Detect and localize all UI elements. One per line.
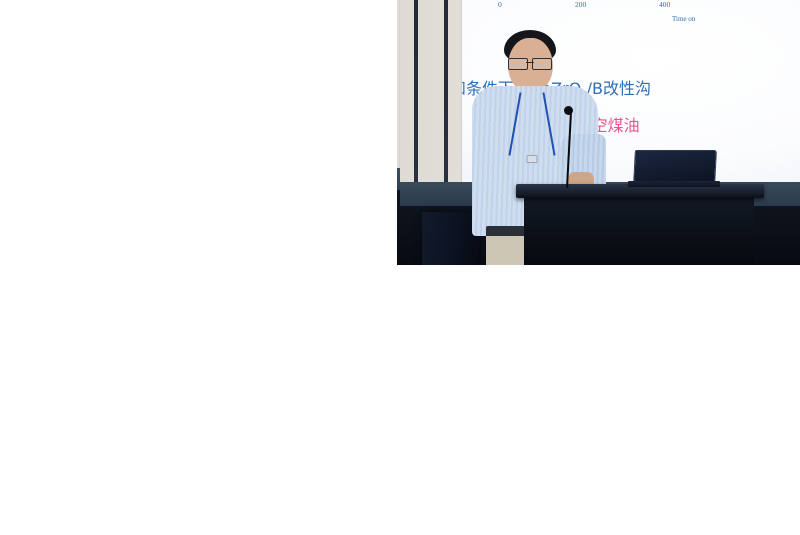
x-tick-200: 200 [575,0,586,9]
microphone-head [564,106,573,115]
glasses-icon [508,58,552,68]
x-tick-0: 0 [498,0,502,9]
x-tick-400: 400 [659,0,670,9]
column-gap [0,0,397,535]
photo-collage: 8LSP-210081.80.69LSP-210090.23.010Commer… [0,0,800,535]
lecture-room-scene: 0 200 400 Time on 温和条件下，ZnZrOx/B改性沟 中99%… [400,0,800,265]
laptop-screen [633,150,717,185]
name-badge [527,155,538,163]
podium [524,190,754,265]
loudspeaker-cabinet [422,212,478,265]
panel-top-right[interactable]: 0 200 400 Time on 温和条件下，ZnZrOx/B改性沟 中99%… [400,0,800,265]
x-axis-title: Time on [672,15,695,23]
lanyard [514,92,550,156]
laptop-base [628,181,720,187]
